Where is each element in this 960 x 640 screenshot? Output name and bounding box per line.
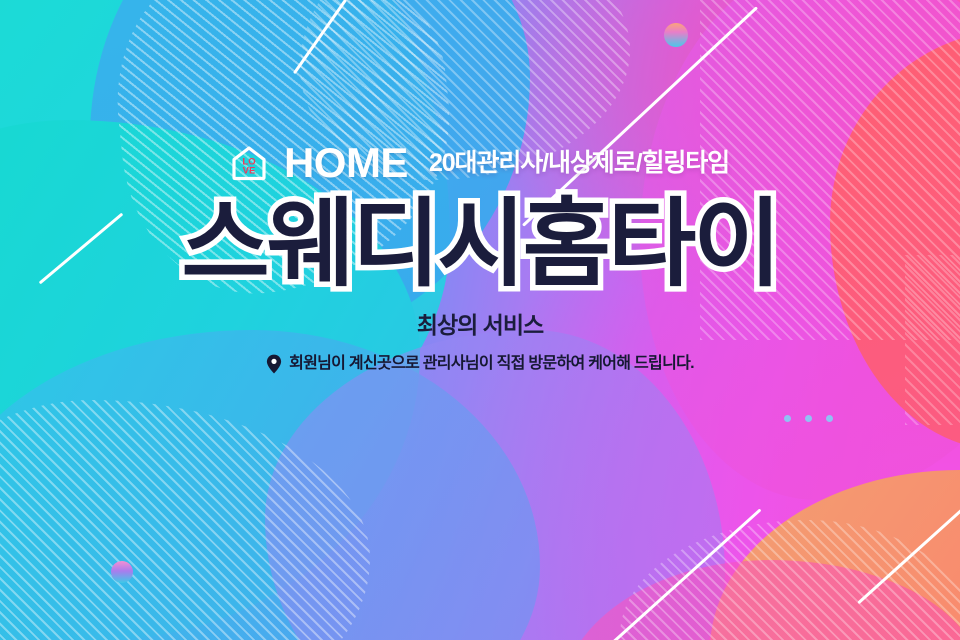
visit-notice-text: 회원님이 계신곳으로 관리사님이 직접 방문하여 케어해 드립니다. [289, 356, 694, 372]
banner-content: LO VE HOME 20대관리사/내상제로/힐링타임 스웨디시홈타이 최상의 … [0, 0, 960, 640]
tagline-text: 20대관리사/내상제로/힐링타임 [429, 151, 729, 176]
location-pin-icon [266, 354, 282, 374]
page-title: 스웨디시홈타이 [181, 196, 778, 294]
brand-name: HOME [284, 142, 408, 184]
visit-notice-row: 회원님이 계신곳으로 관리사님이 직접 방문하여 케어해 드립니다. [266, 354, 694, 374]
headline-row: LO VE HOME 20대관리사/내상제로/힐링타임 [231, 142, 729, 184]
house-love-icon: LO VE [231, 145, 267, 181]
promo-banner: LO VE HOME 20대관리사/내상제로/힐링타임 스웨디시홈타이 최상의 … [0, 0, 960, 640]
svg-text:VE: VE [243, 166, 256, 177]
service-label: 최상의 서비스 [417, 314, 543, 337]
